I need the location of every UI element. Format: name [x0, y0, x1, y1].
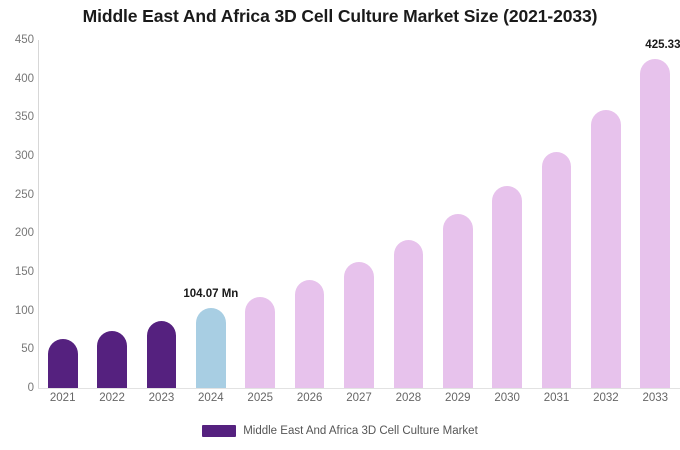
y-axis-tick-label: 200: [2, 227, 34, 239]
bar-2022[interactable]: [97, 331, 127, 388]
x-axis-tick-label: 2033: [631, 392, 680, 404]
x-axis-tick-label: 2025: [236, 392, 285, 404]
x-axis-tick-label: 2029: [433, 392, 482, 404]
y-axis-tick-label: 50: [2, 343, 34, 355]
bar-group[interactable]: [245, 40, 275, 388]
bar-group[interactable]: [443, 40, 473, 388]
bar-group[interactable]: [542, 40, 572, 388]
x-axis-tick-label: 2022: [87, 392, 136, 404]
x-axis-line: [38, 388, 680, 389]
chart-legend: Middle East And Africa 3D Cell Culture M…: [0, 425, 680, 437]
x-axis-tick-label: 2028: [384, 392, 433, 404]
bar-2033[interactable]: [640, 59, 670, 388]
x-axis-tick-label: 2027: [334, 392, 383, 404]
bar-2030[interactable]: [492, 186, 522, 388]
y-axis-tick-label: 450: [2, 34, 34, 46]
bar-group[interactable]: [492, 40, 522, 388]
bar-2032[interactable]: [591, 110, 621, 388]
bar-2024[interactable]: [196, 308, 226, 388]
y-axis-tick-label: 100: [2, 305, 34, 317]
bar-group[interactable]: [97, 40, 127, 388]
bar-2026[interactable]: [295, 280, 325, 388]
chart-title: Middle East And Africa 3D Cell Culture M…: [0, 6, 680, 27]
bar-group[interactable]: [196, 40, 226, 388]
x-axis-tick-label: 2021: [38, 392, 87, 404]
y-axis: 050100150200250300350400450: [0, 0, 34, 450]
legend-swatch: [202, 425, 236, 437]
bar-2028[interactable]: [394, 240, 424, 388]
x-axis: 2021202220232024202520262027202820292030…: [38, 392, 680, 412]
y-axis-tick-label: 400: [2, 73, 34, 85]
bar-group[interactable]: [147, 40, 177, 388]
y-axis-tick-label: 350: [2, 111, 34, 123]
bar-group[interactable]: [591, 40, 621, 388]
bar-chart: Middle East And Africa 3D Cell Culture M…: [0, 0, 680, 450]
x-axis-tick-label: 2031: [532, 392, 581, 404]
y-axis-tick-label: 150: [2, 266, 34, 278]
bar-group[interactable]: [295, 40, 325, 388]
y-axis-tick-label: 0: [2, 382, 34, 394]
x-axis-tick-label: 2023: [137, 392, 186, 404]
bar-group[interactable]: [48, 40, 78, 388]
y-axis-tick-label: 250: [2, 189, 34, 201]
y-axis-tick-label: 300: [2, 150, 34, 162]
x-axis-tick-label: 2030: [482, 392, 531, 404]
bar-value-label-2024: 104.07 Mn: [183, 288, 238, 300]
bar-2023[interactable]: [147, 321, 177, 388]
bar-group[interactable]: [344, 40, 374, 388]
bar-2025[interactable]: [245, 297, 275, 388]
x-axis-tick-label: 2026: [285, 392, 334, 404]
legend-label: Middle East And Africa 3D Cell Culture M…: [243, 425, 478, 437]
x-axis-tick-label: 2024: [186, 392, 235, 404]
bar-2031[interactable]: [542, 152, 572, 388]
bar-2021[interactable]: [48, 339, 78, 388]
x-axis-tick-label: 2032: [581, 392, 630, 404]
bar-2027[interactable]: [344, 262, 374, 388]
bar-2029[interactable]: [443, 214, 473, 388]
bar-value-label-2033: 425.33 Mn: [645, 39, 680, 51]
bars-layer: 104.07 Mn425.33 Mn: [38, 40, 680, 388]
bar-group[interactable]: [640, 40, 670, 388]
bar-group[interactable]: [394, 40, 424, 388]
